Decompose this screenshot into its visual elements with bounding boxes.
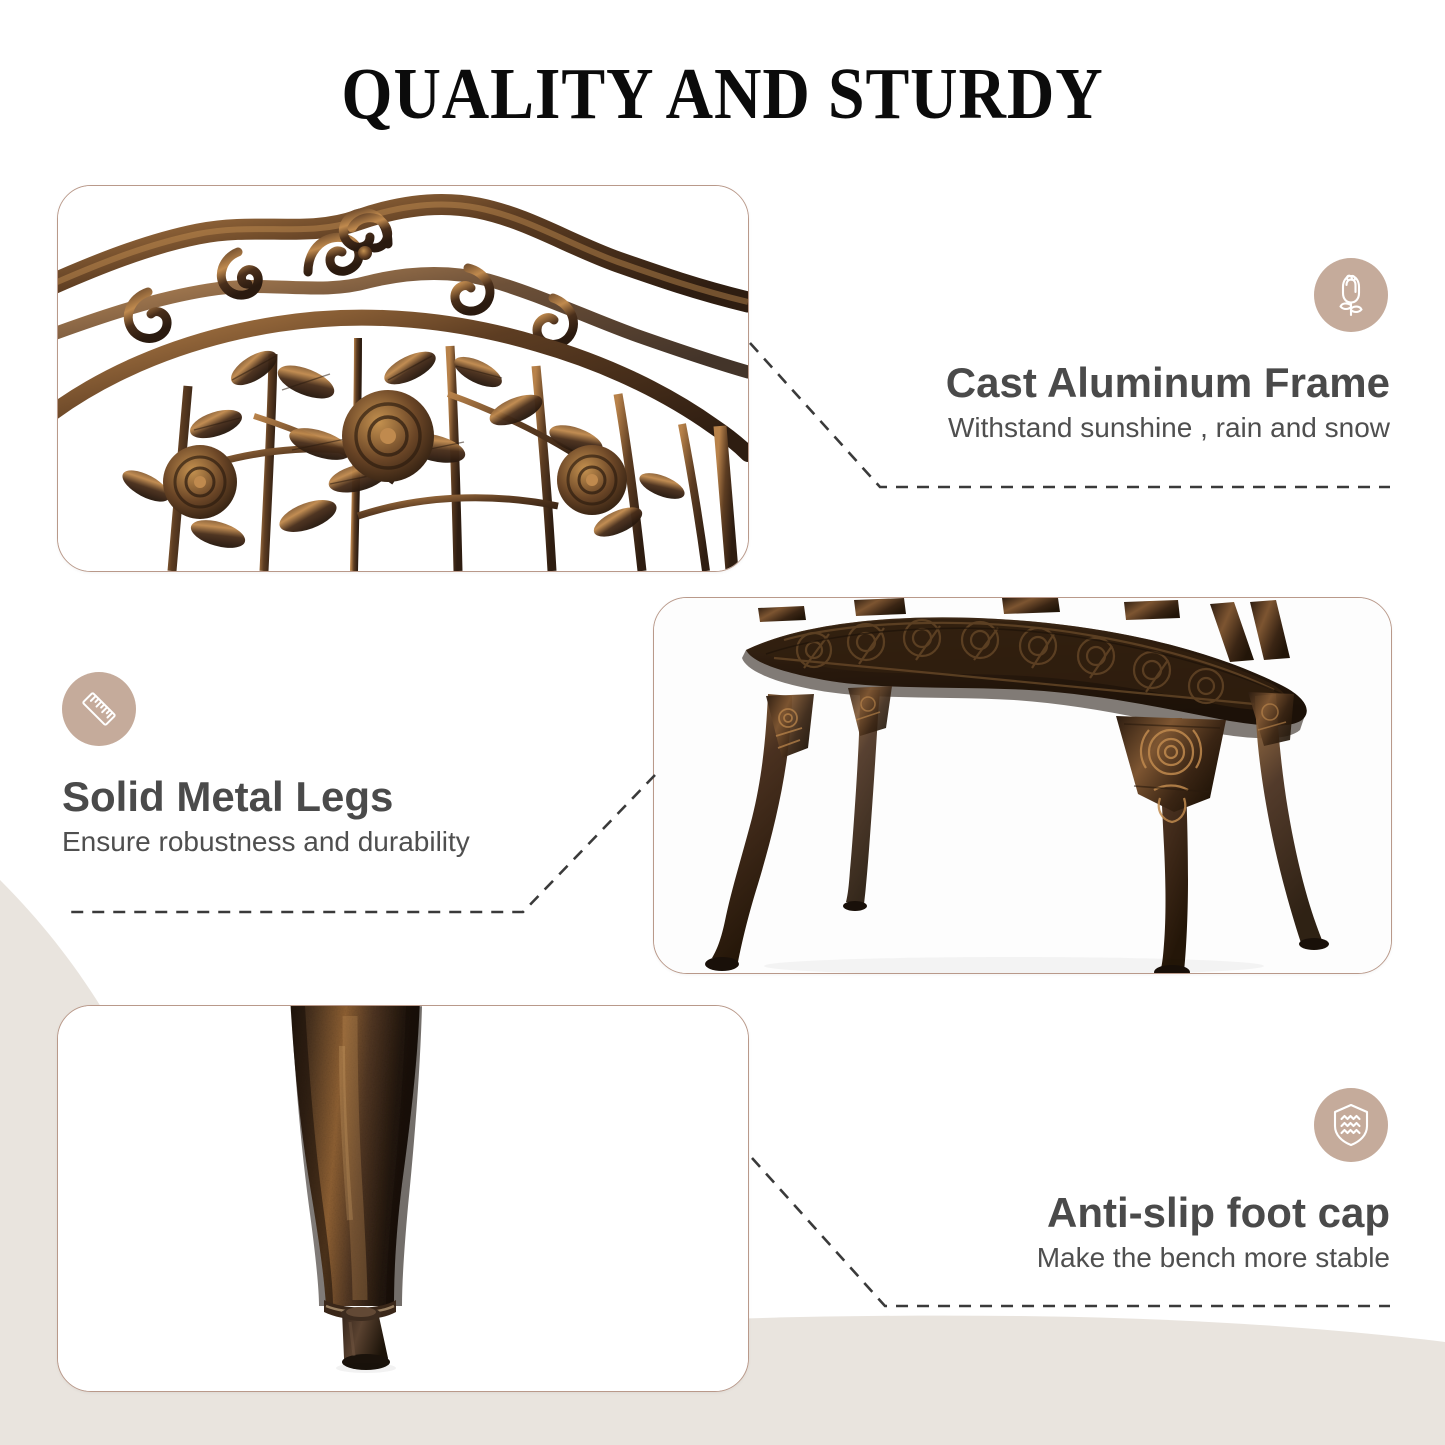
- ruler-icon: [62, 672, 136, 746]
- feature-anti-slip-foot-cap: Anti-slip foot cap Make the bench more s…: [860, 1088, 1390, 1275]
- photo-card-bench-backrest[interactable]: [57, 185, 749, 572]
- page-title: QUALITY AND STURDY: [72, 52, 1373, 136]
- photo-card-bench-legs[interactable]: [653, 597, 1392, 974]
- photo-card-bench-foot-cap[interactable]: [57, 1005, 749, 1392]
- shield-icon: [1314, 1088, 1388, 1162]
- feature-subtitle: Withstand sunshine , rain and snow: [860, 411, 1390, 445]
- feature-title: Cast Aluminum Frame: [860, 360, 1390, 405]
- bench-legs-image: [654, 598, 1391, 973]
- feature-solid-metal-legs: Solid Metal Legs Ensure robustness and d…: [62, 672, 602, 859]
- rose-icon: [1314, 258, 1388, 332]
- bench-foot-cap-image: [58, 1006, 748, 1391]
- feature-subtitle: Ensure robustness and durability: [62, 825, 602, 859]
- feature-subtitle: Make the bench more stable: [860, 1241, 1390, 1275]
- feature-title: Solid Metal Legs: [62, 774, 602, 819]
- bench-backrest-image: [58, 186, 748, 571]
- feature-title: Anti-slip foot cap: [860, 1190, 1390, 1235]
- feature-cast-aluminum-frame: Cast Aluminum Frame Withstand sunshine ,…: [860, 258, 1390, 445]
